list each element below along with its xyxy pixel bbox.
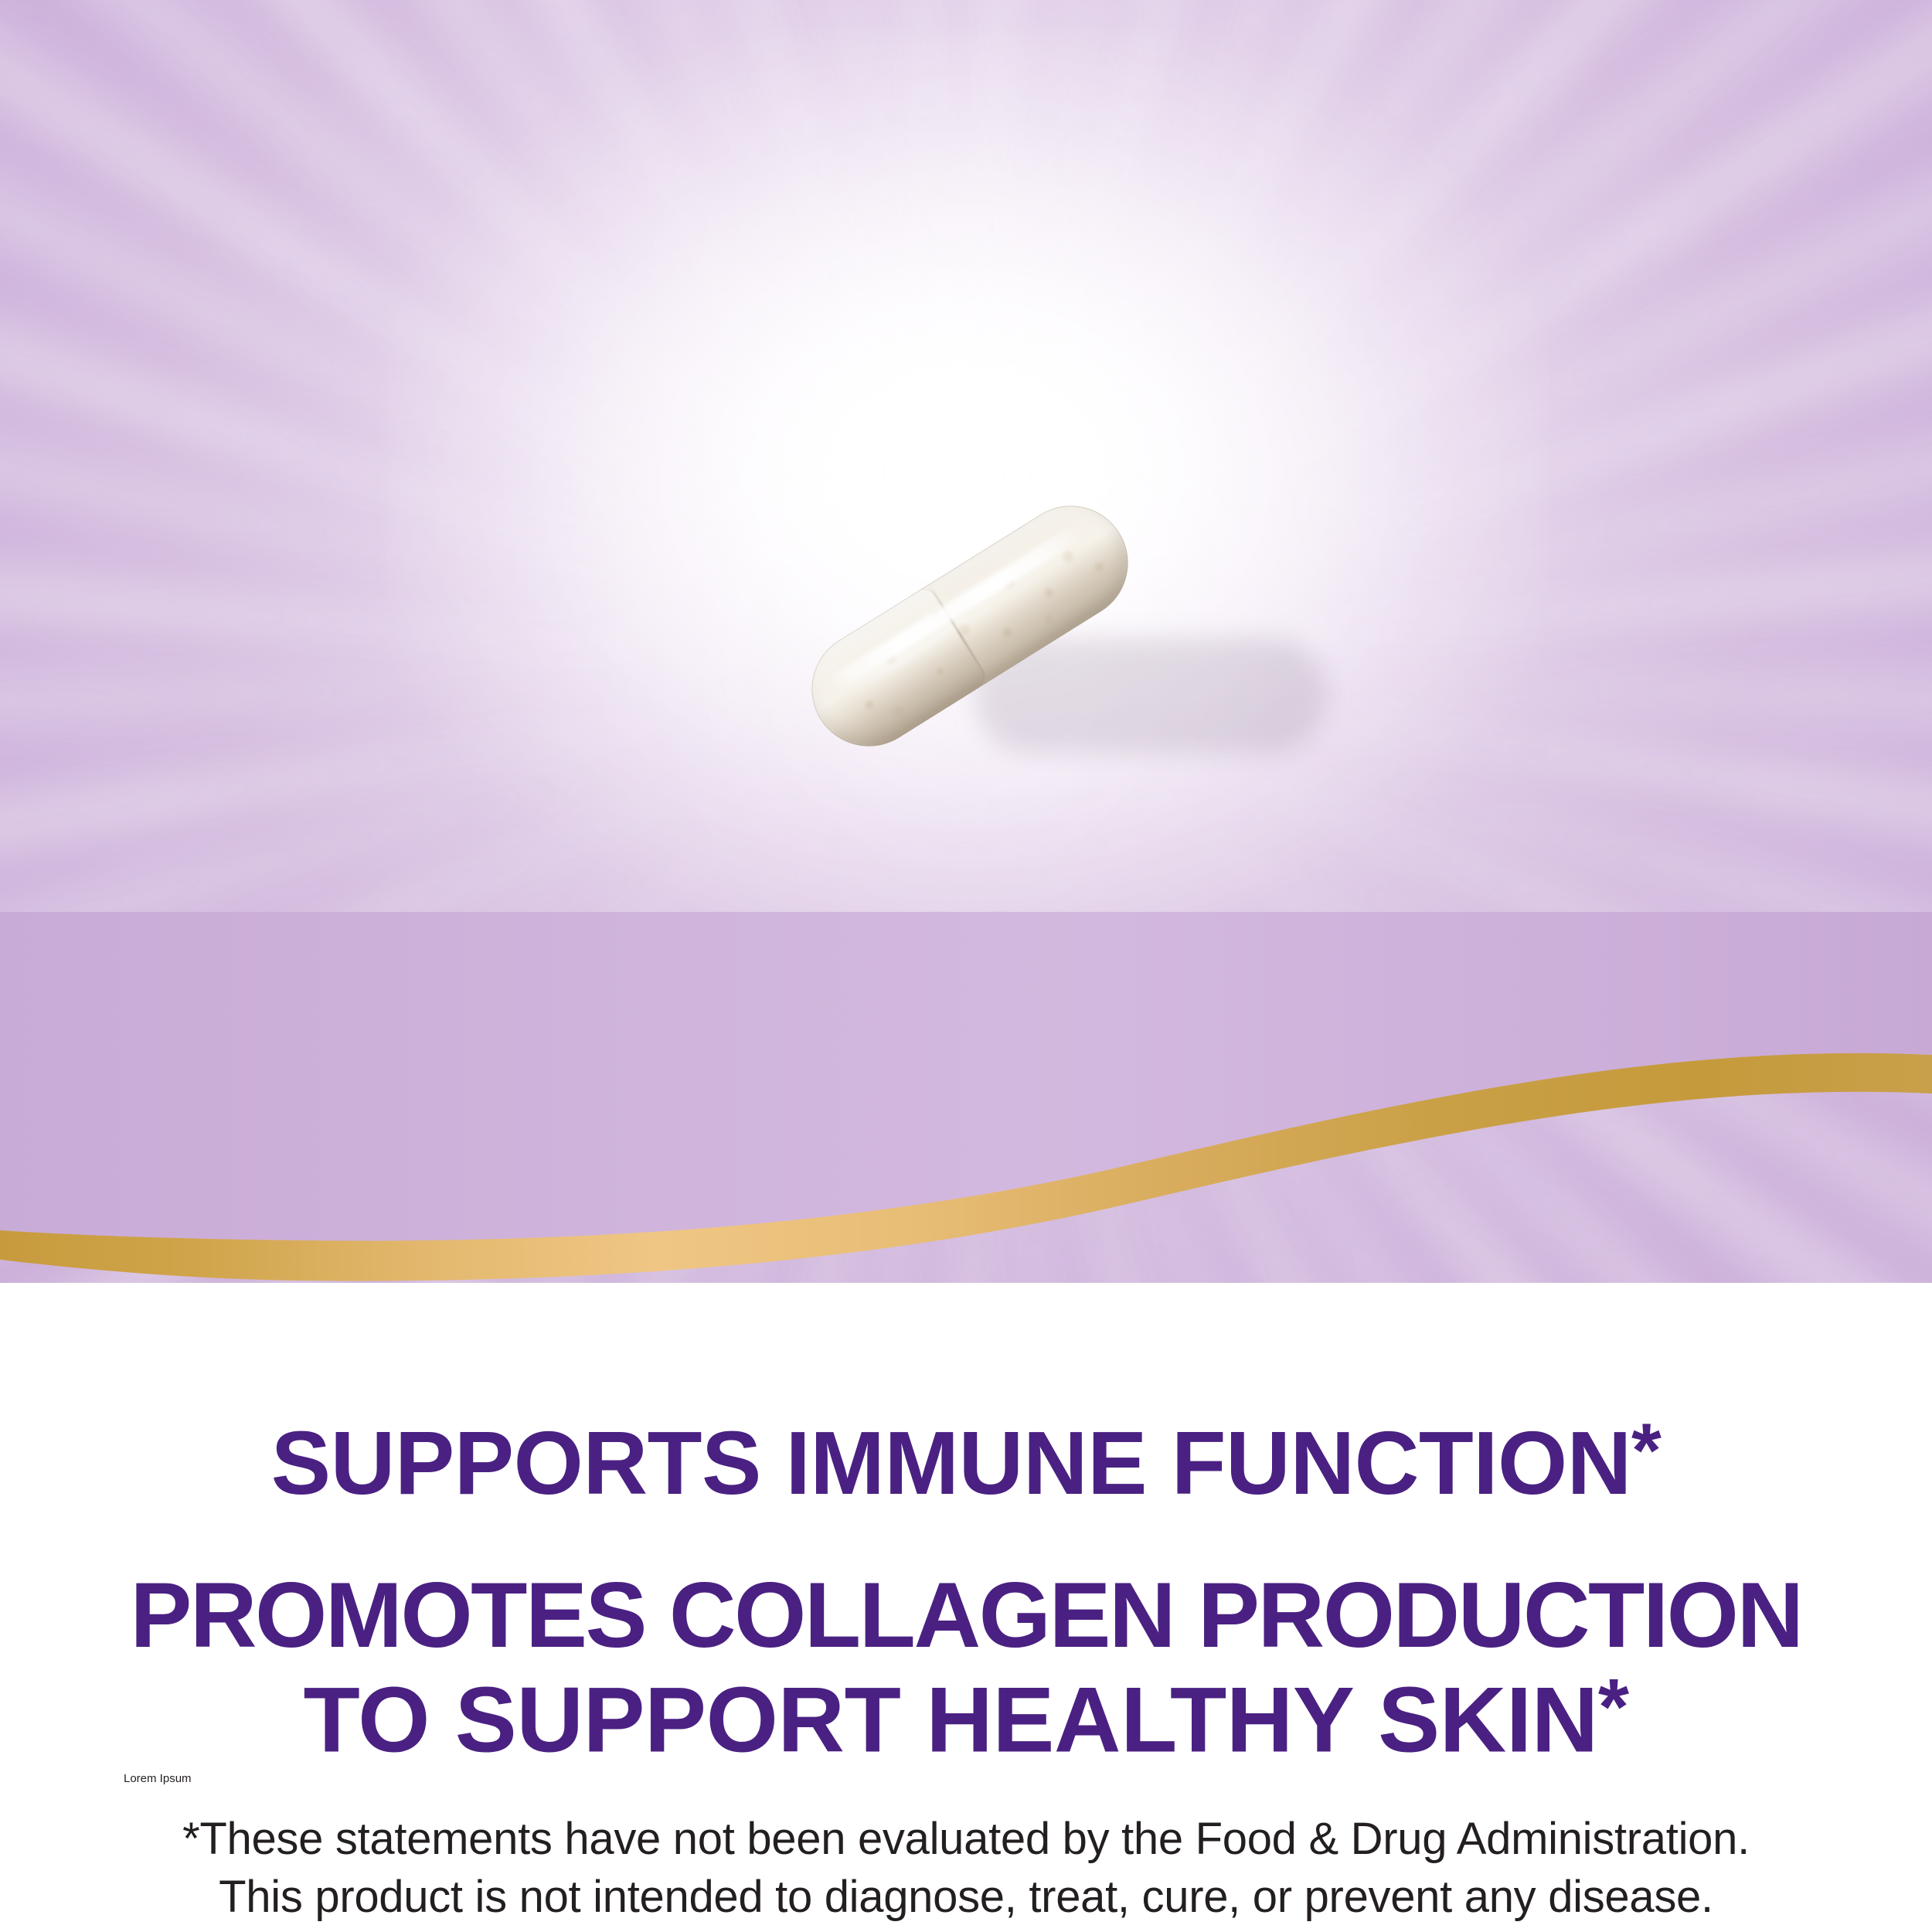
disclaimer-line-2: This product is not intended to diagnose… [0,1868,1932,1926]
headline-secondary-line-2: TO SUPPORT HEALTHY SKIN [303,1668,1597,1772]
headline-secondary-line-1: PROMOTES COLLAGEN PRODUCTION [0,1566,1932,1665]
disclaimer-line-1-wrap: *These statements have not been evaluate… [0,1810,1932,1868]
center-glow [386,30,1546,919]
headline-primary: SUPPORTS IMMUNE FUNCTION* [0,1314,1932,1508]
headline-secondary-asterisk: * [1598,1662,1629,1751]
headline-primary-asterisk: * [1631,1408,1661,1494]
headline-primary-text: SUPPORTS IMMUNE FUNCTION [271,1413,1631,1513]
fda-disclaimer: Lorem Ipsum *These statements have not b… [0,1770,1932,1927]
product-marketing-panel: SUPPORTS IMMUNE FUNCTION* PROMOTES COLLA… [0,0,1932,1932]
headline-secondary-line-2-wrap: TO SUPPORT HEALTHY SKIN* [0,1665,1932,1770]
disclaimer-asterisk: * [182,1814,199,1864]
stray-placeholder-text: Lorem Ipsum [124,1771,192,1787]
hero-section [0,0,1932,1283]
disclaimer-line-1: These statements have not been evaluated… [199,1814,1750,1864]
copy-block: SUPPORTS IMMUNE FUNCTION* PROMOTES COLLA… [0,1314,1932,1927]
headline-secondary: PROMOTES COLLAGEN PRODUCTION TO SUPPORT … [0,1508,1932,1770]
